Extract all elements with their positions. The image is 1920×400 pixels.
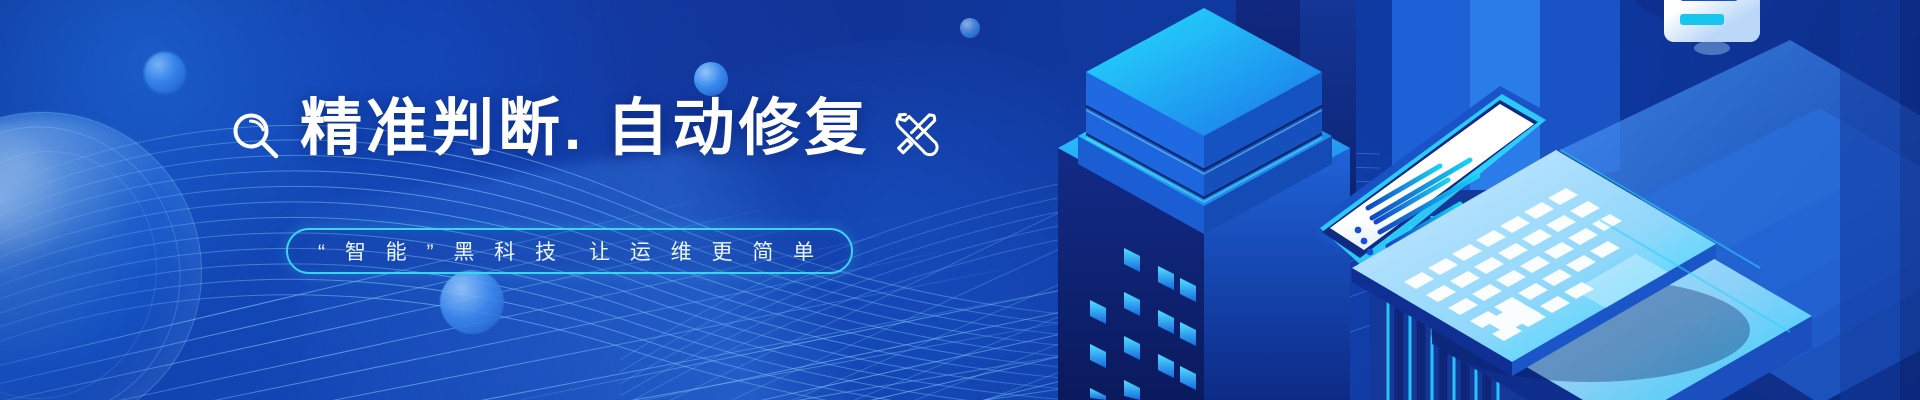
isometric-datacenter-scene (1000, 0, 1920, 400)
wrench-screwdriver-icon (888, 106, 944, 162)
right-slim-panels (1840, 0, 1920, 400)
sphere-medium-center (440, 270, 504, 334)
subtitle-part-2: 让 运 维 更 简 单 (589, 236, 821, 266)
headline-text: 精准判断. 自动修复 (300, 98, 870, 160)
headline-group: 精准判断. 自动修复 (228, 96, 944, 162)
hero-banner: 精准判断. 自动修复 “ 智 能 ” 黑 科 技 让 运 维 更 简 单 (0, 0, 1920, 400)
magnifier-icon (228, 108, 282, 162)
subtitle-part-1: “ 智 能 ” 黑 科 技 (318, 236, 563, 266)
subtitle-pill: “ 智 能 ” 黑 科 技 让 运 维 更 简 单 (286, 228, 853, 274)
sphere-tiny-right (960, 18, 980, 38)
sphere-small-top-mid (694, 62, 728, 96)
sphere-small-top-left (144, 52, 186, 94)
document-card (1636, 0, 1760, 55)
